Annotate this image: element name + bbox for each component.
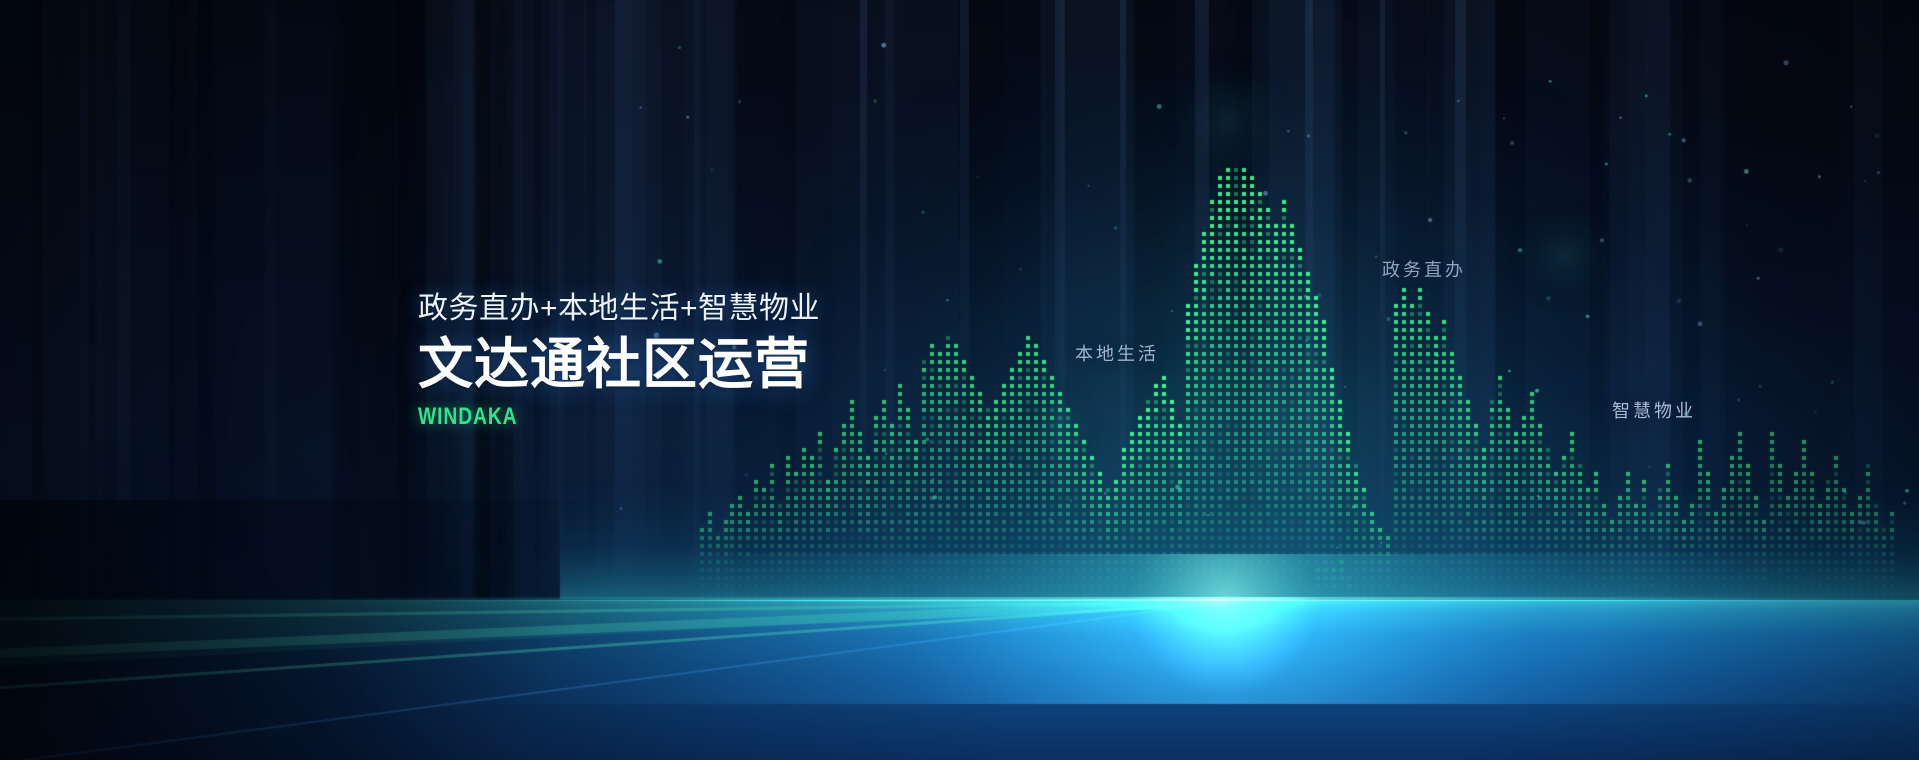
headline-block: 政务直办+本地生活+智慧物业 文达通社区运营 WINDAKA (418, 292, 820, 431)
hero-banner: 本地生活 政务直办 智慧物业 政务直办+本地生活+智慧物业 文达通社区运营 WI… (0, 0, 1919, 760)
zone-label-local-life: 本地生活 (1075, 340, 1159, 366)
brand-wordmark: WINDAKA (418, 403, 740, 431)
sparkle-particles (0, 0, 1919, 760)
zone-label-govt-affairs: 政务直办 (1382, 256, 1466, 282)
banner-subtitle: 政务直办+本地生活+智慧物业 (418, 292, 820, 327)
banner-title: 文达通社区运营 (418, 336, 820, 392)
zone-label-smart-property: 智慧物业 (1612, 397, 1696, 423)
